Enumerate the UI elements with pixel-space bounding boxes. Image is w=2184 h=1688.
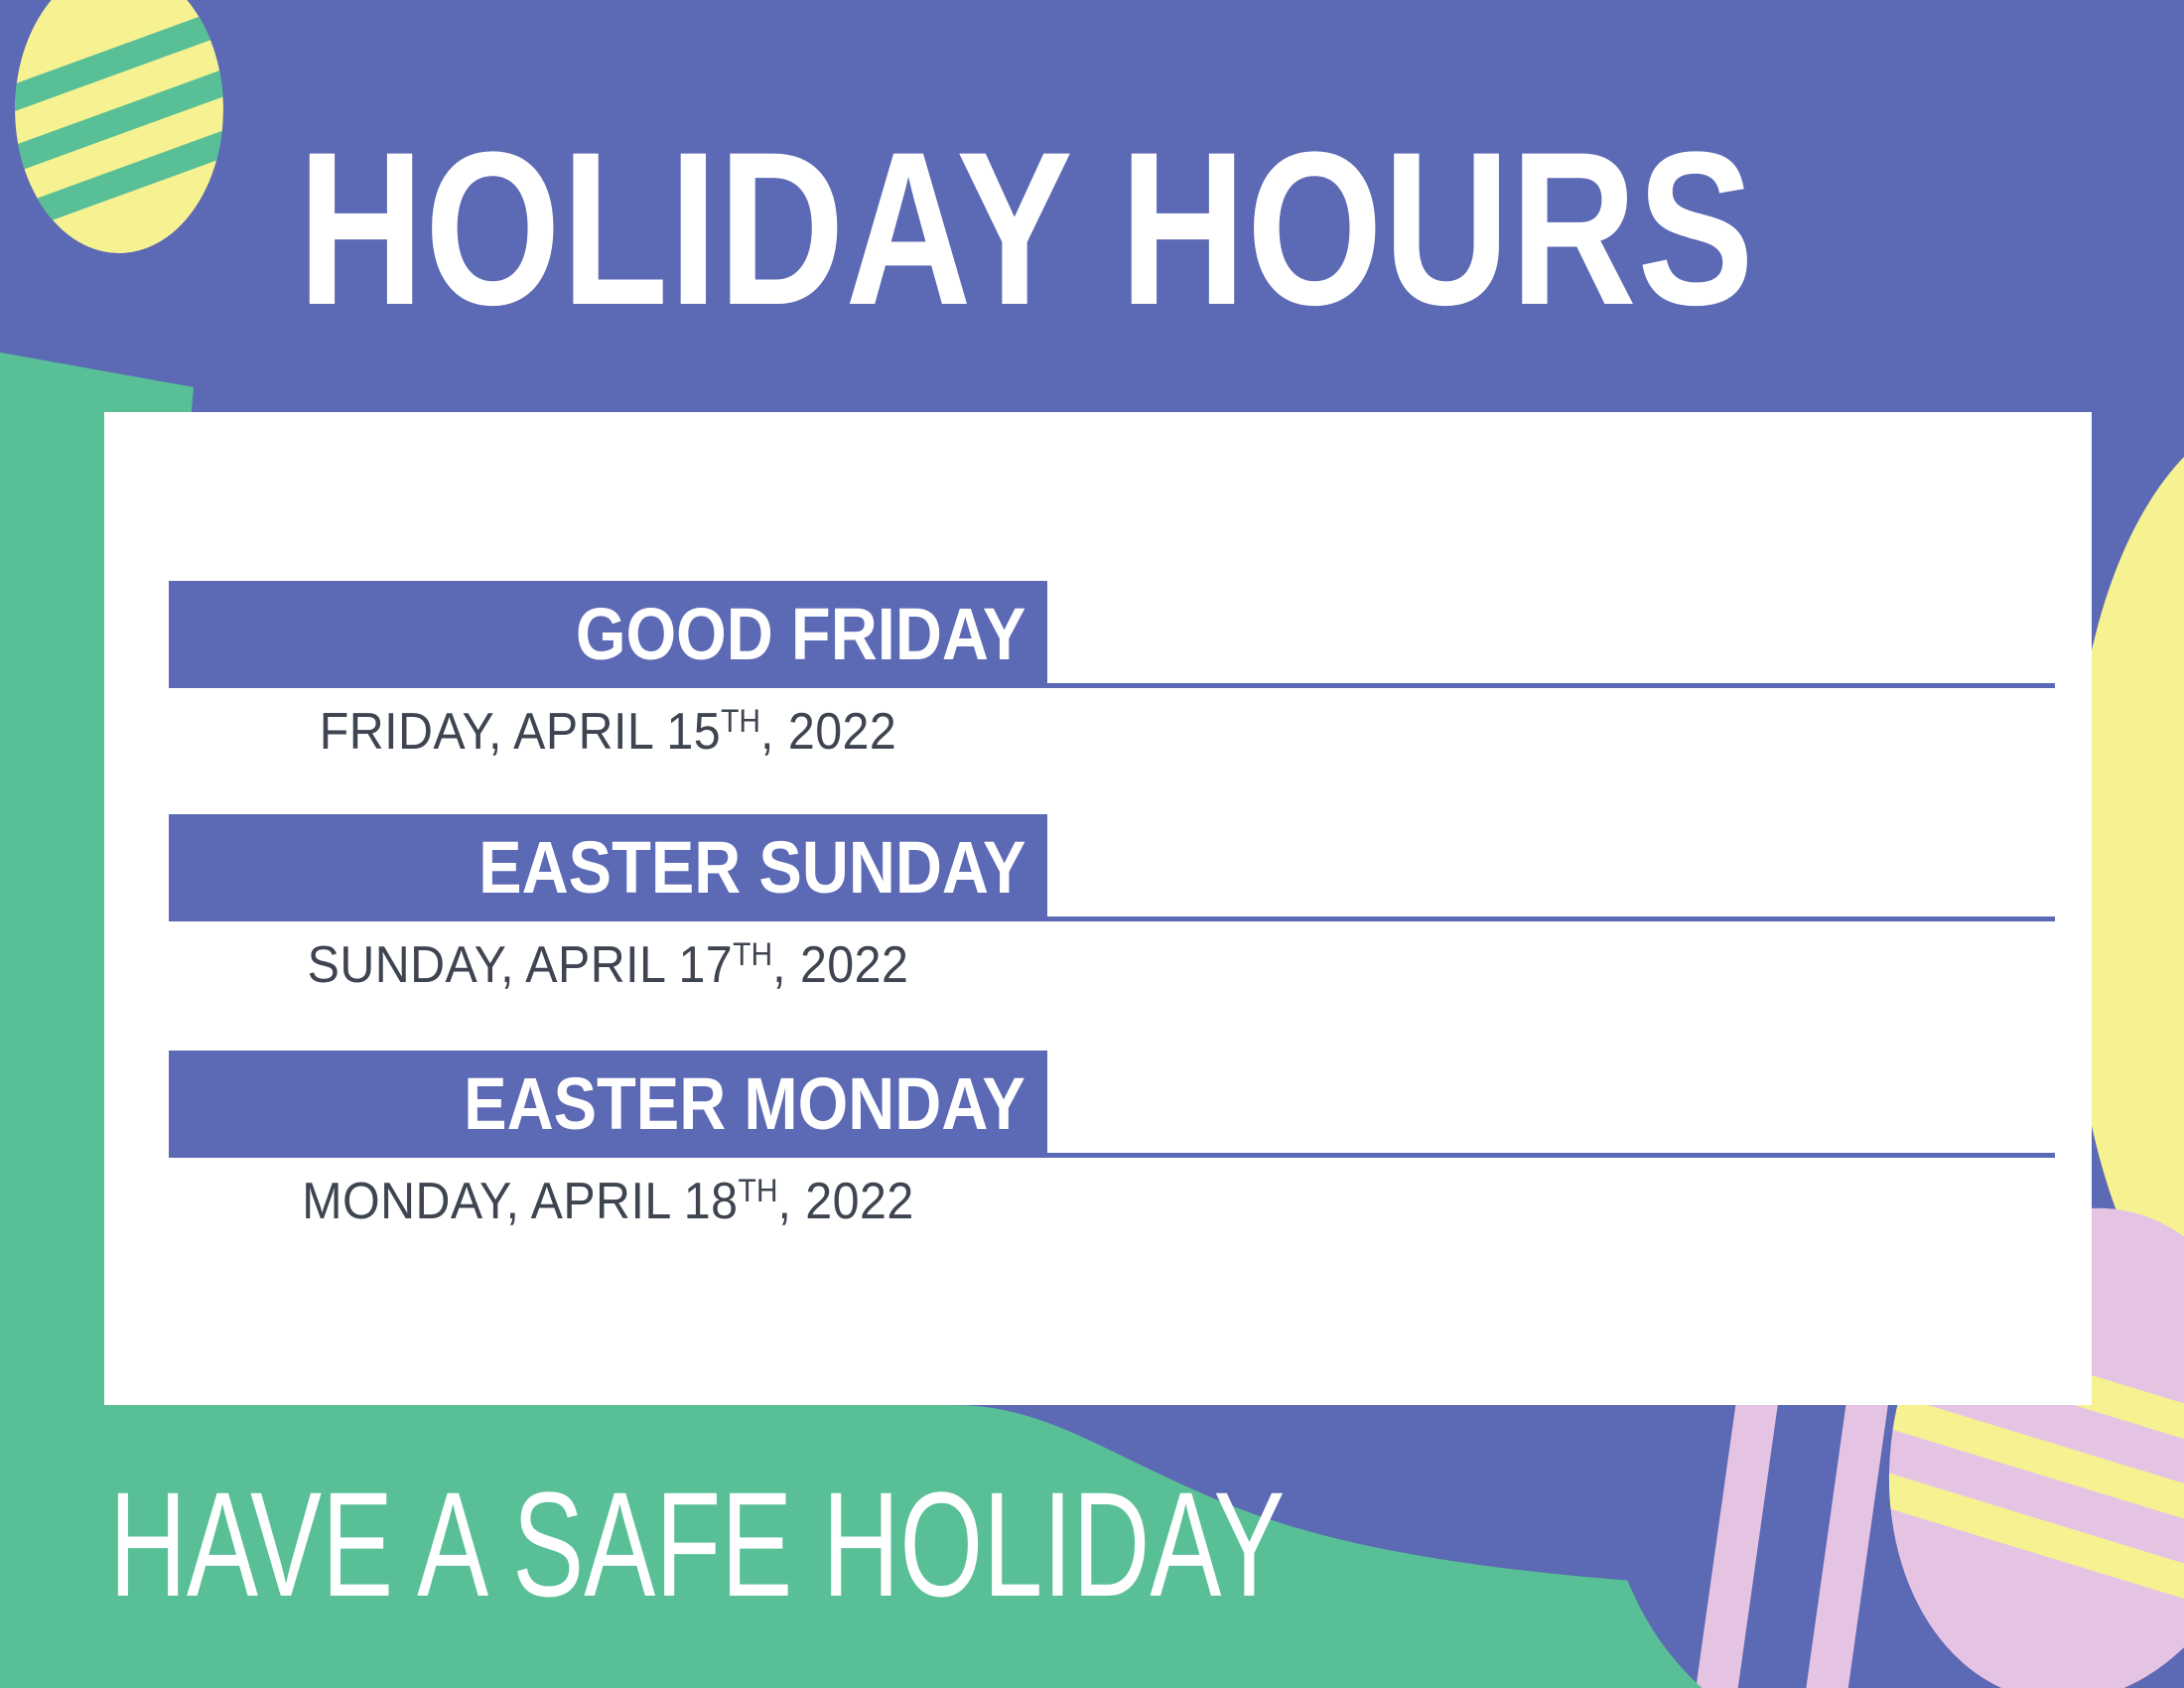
- event-name-bar: EASTER SUNDAY: [169, 814, 1047, 921]
- event-name-label: EASTER SUNDAY: [478, 829, 1025, 907]
- event-name-bar: GOOD FRIDAY: [169, 581, 1047, 688]
- event-date-prefix: MONDAY, APRIL 18: [302, 1173, 738, 1230]
- event-date-prefix: SUNDAY, APRIL 17: [308, 936, 734, 994]
- event-name-bar: EASTER MONDAY: [169, 1051, 1047, 1158]
- event-hours-rule[interactable]: [1047, 683, 2055, 688]
- event-date-suffix: , 2022: [772, 936, 908, 994]
- event-date-suffix: , 2022: [760, 703, 896, 761]
- event-hours-rule[interactable]: [1047, 1153, 2055, 1158]
- event-date-label: SUNDAY, APRIL 17TH, 2022: [200, 924, 1017, 995]
- event-date-suffix: , 2022: [777, 1173, 913, 1230]
- event-name-label: GOOD FRIDAY: [576, 596, 1025, 673]
- holiday-hours-poster: HOLIDAY HOURS GOOD FRIDAY FRIDAY, APRIL …: [0, 0, 2184, 1688]
- event-date-label: MONDAY, APRIL 18TH, 2022: [200, 1161, 1017, 1231]
- event-date-prefix: FRIDAY, APRIL 15: [320, 703, 721, 761]
- event-date-ordinal: TH: [733, 936, 772, 972]
- event-name-label: EASTER MONDAY: [464, 1065, 1025, 1143]
- event-date-ordinal: TH: [721, 703, 760, 739]
- event-hours-rule[interactable]: [1047, 916, 2055, 921]
- event-date-label: FRIDAY, APRIL 15TH, 2022: [200, 691, 1017, 762]
- page-title: HOLIDAY HOURS: [298, 119, 1755, 338]
- footer-message: HAVE A SAFE HOLIDAY: [109, 1470, 1285, 1618]
- event-date-ordinal: TH: [739, 1173, 778, 1208]
